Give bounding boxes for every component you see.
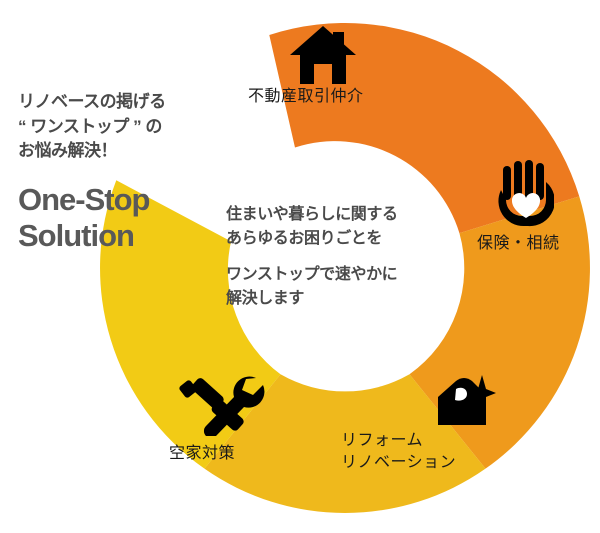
page-title-line: Solution — [18, 218, 218, 254]
segment-label-line: 保険・相続 — [477, 233, 560, 255]
house-sparkle-icon — [434, 375, 496, 436]
hand-heart-icon — [498, 160, 554, 233]
segment-label-vacant-house: 空家対策 — [169, 443, 235, 465]
segment-label-reform: リフォーム リノベーション — [341, 430, 456, 473]
center-paragraph-second: ワンストップで速やかに 解決します — [226, 263, 456, 311]
segment-label-line: リノベーション — [341, 452, 456, 474]
center-paragraph-line: ワンストップで速やかに — [226, 263, 456, 287]
infographic-canvas: 不動産取引仲介 保険・相続 リフォーム リノベーション 空家対策 リノベースの掲… — [0, 0, 600, 533]
left-headline-block: リノベースの掲げる “ ワンストップ ” の お悩み解決！ One-Stop S… — [18, 90, 218, 254]
page-title-line: One-Stop — [18, 182, 218, 218]
lead-line: リノベースの掲げる — [18, 90, 218, 115]
segment-label-line: リフォーム — [341, 430, 456, 452]
lead-line: お悩み解決！ — [18, 139, 218, 164]
house-icon — [288, 24, 358, 91]
segment-label-line: 空家対策 — [169, 443, 235, 465]
page-title: One-Stop Solution — [18, 182, 218, 254]
center-paragraph-line: 解決します — [226, 287, 456, 311]
segment-label-insurance: 保険・相続 — [477, 233, 560, 255]
center-paragraph-line: あらゆるお困りごとを — [226, 227, 456, 251]
segment-label-line: 不動産取引仲介 — [248, 86, 364, 108]
segment-label-real-estate: 不動産取引仲介 — [248, 86, 364, 108]
center-paragraph-first: 住まいや暮らしに関する あらゆるお困りごとを — [226, 203, 456, 251]
center-paragraph-line: 住まいや暮らしに関する — [226, 203, 456, 227]
lead-line: “ ワンストップ ” の — [18, 115, 218, 140]
center-description-block: 住まいや暮らしに関する あらゆるお困りごとを ワンストップで速やかに 解決します — [226, 203, 456, 311]
hammer-wrench-icon — [173, 372, 265, 441]
